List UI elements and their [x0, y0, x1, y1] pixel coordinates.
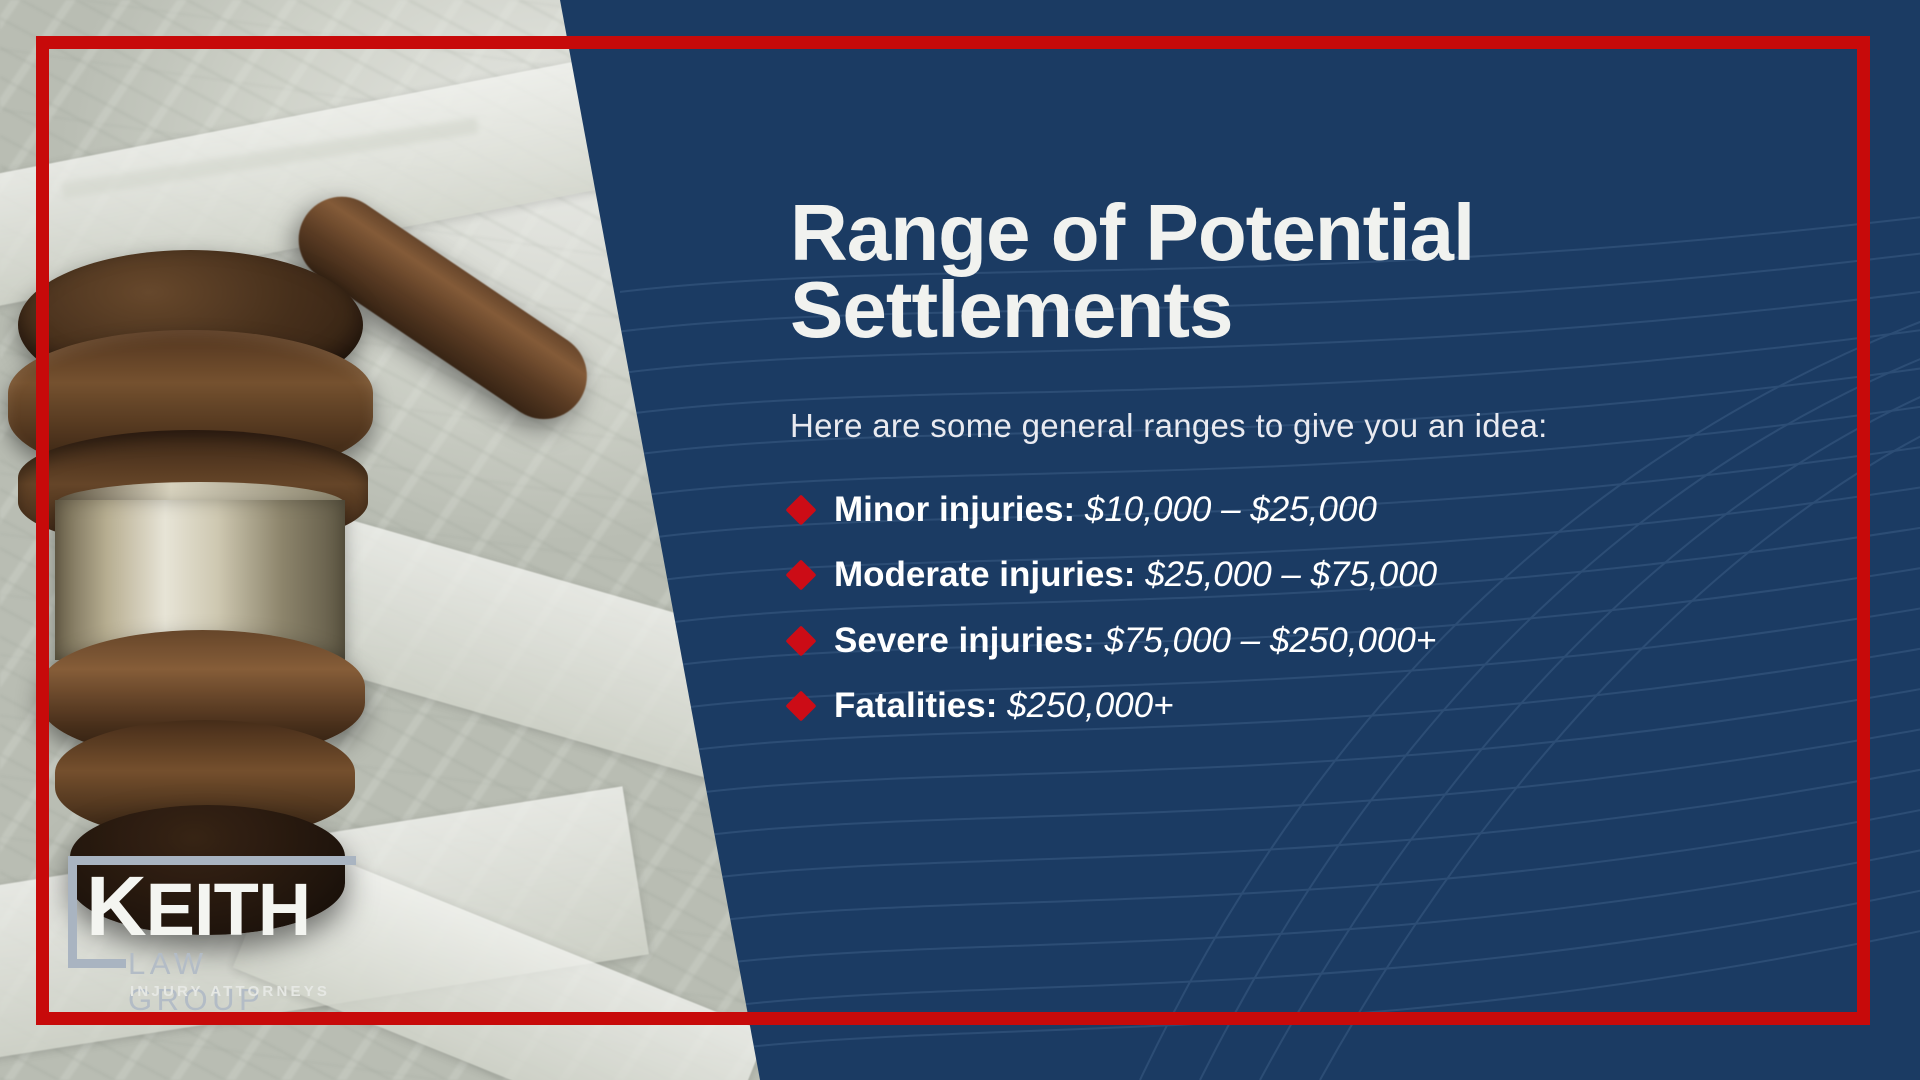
- list-item-label: Moderate injuries:: [834, 555, 1135, 594]
- diamond-bullet-icon: [785, 494, 816, 525]
- list-item-amount: $25,000 – $75,000: [1145, 555, 1437, 594]
- list-item: Moderate injuries: $25,000 – $75,000: [790, 556, 1820, 595]
- keith-law-group-logo: KEITH LAW GROUP INJURY ATTORNEYS: [68, 850, 343, 1000]
- list-item-amount: $250,000+: [1007, 686, 1173, 725]
- settlement-range-list: Minor injuries: $10,000 – $25,000 Modera…: [790, 491, 1820, 726]
- diamond-bullet-icon: [785, 560, 816, 591]
- page-title: Range of Potential Settlements: [790, 195, 1820, 349]
- list-item: Fatalities: $250,000+: [790, 687, 1820, 726]
- list-item-label: Minor injuries:: [834, 490, 1075, 529]
- list-item: Severe injuries: $75,000 – $250,000+: [790, 622, 1820, 661]
- list-item-text: Fatalities: $250,000+: [834, 687, 1174, 726]
- list-item-label: Severe injuries:: [834, 621, 1095, 660]
- logo-wordmark-rest: EITH: [146, 868, 311, 951]
- list-item-text: Moderate injuries: $25,000 – $75,000: [834, 556, 1437, 595]
- list-item-text: Minor injuries: $10,000 – $25,000: [834, 491, 1377, 530]
- logo-tagline: INJURY ATTORNEYS: [130, 983, 330, 1000]
- diamond-bullet-icon: [785, 691, 816, 722]
- list-item-amount: $75,000 – $250,000+: [1104, 621, 1436, 660]
- list-item: Minor injuries: $10,000 – $25,000: [790, 491, 1820, 530]
- slide-subtitle: Here are some general ranges to give you…: [790, 407, 1820, 445]
- logo-subtitle: LAW GROUP: [128, 946, 343, 1018]
- diamond-bullet-icon: [785, 625, 816, 656]
- logo-wordmark: KEITH: [86, 864, 310, 948]
- list-item-amount: $10,000 – $25,000: [1085, 490, 1377, 529]
- logo-wordmark-initial: K: [86, 859, 146, 953]
- list-item-text: Severe injuries: $75,000 – $250,000+: [834, 622, 1436, 661]
- slide-canvas: Range of Potential Settlements Here are …: [0, 0, 1920, 1080]
- list-item-label: Fatalities:: [834, 686, 997, 725]
- slide-content: Range of Potential Settlements Here are …: [790, 195, 1820, 753]
